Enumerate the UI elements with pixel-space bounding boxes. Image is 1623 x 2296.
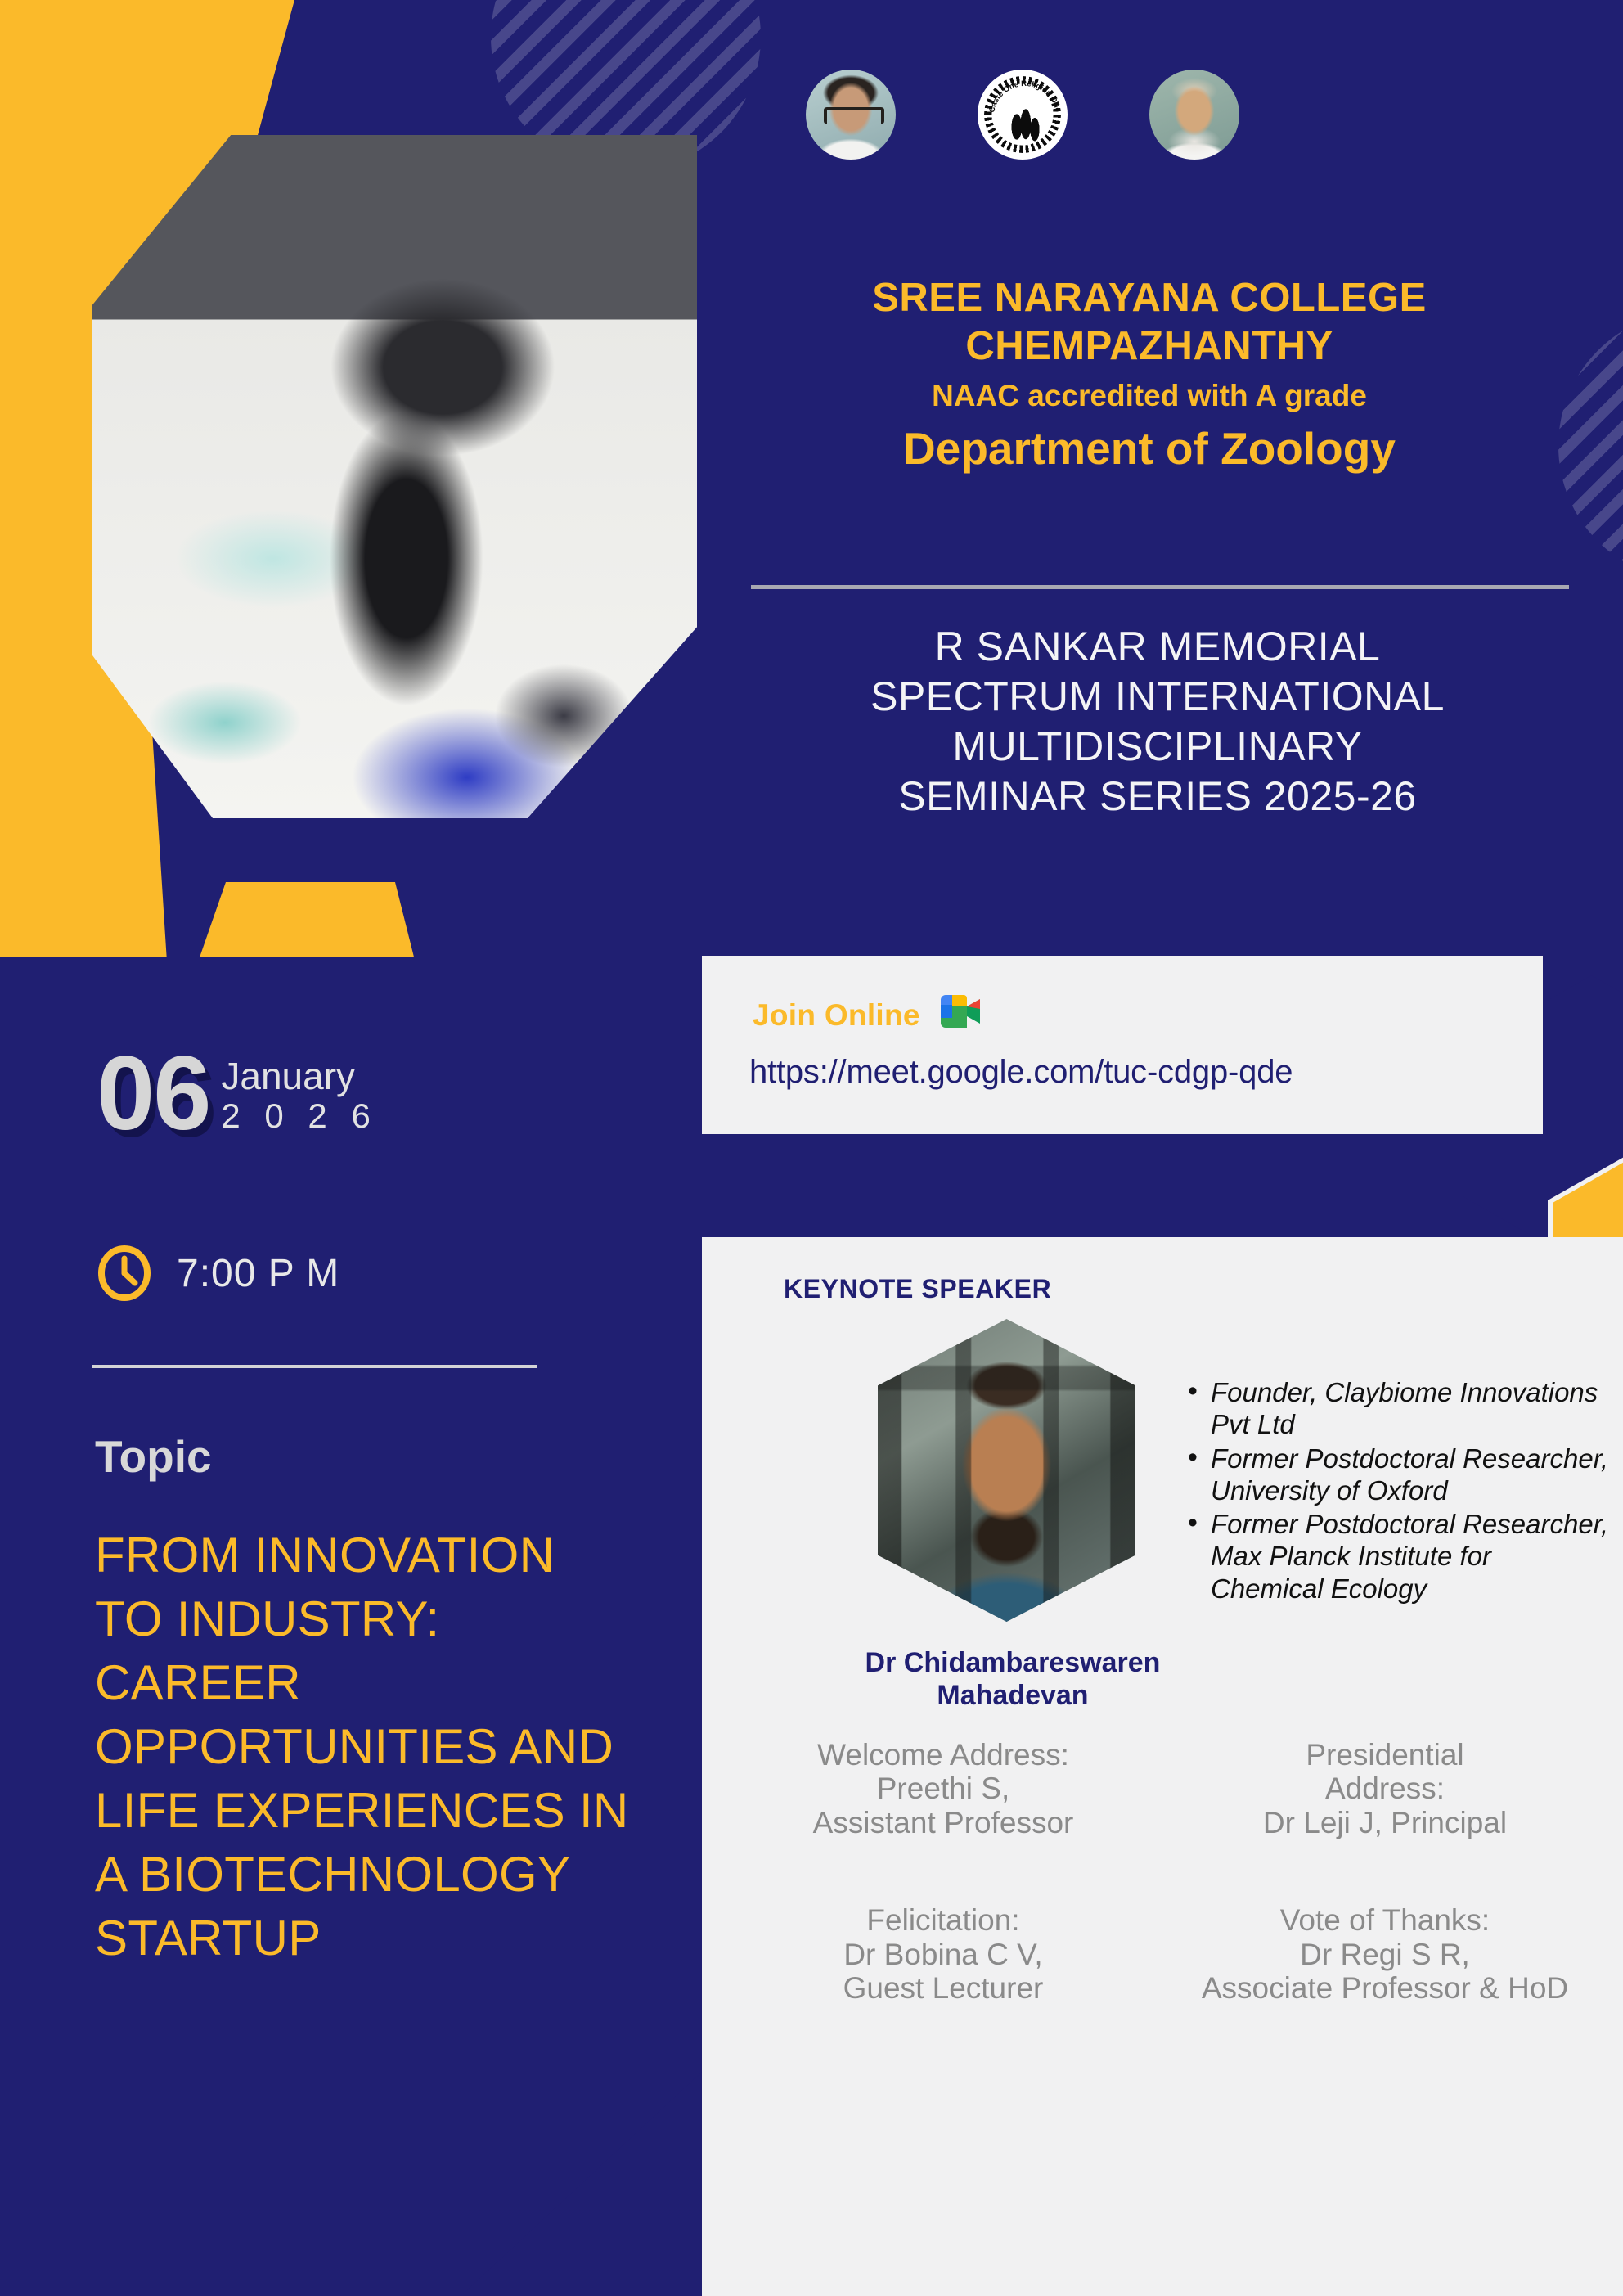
- left-divider: [92, 1365, 537, 1368]
- credit-person: Preethi S,: [726, 1772, 1160, 1805]
- seminar-title-line4: SEMINAR SERIES 2025-26: [736, 772, 1579, 822]
- seminar-title: R SANKAR MEMORIAL SPECTRUM INTERNATIONAL…: [736, 622, 1579, 822]
- header-divider: [751, 585, 1569, 589]
- seminar-title-line3: MULTIDISCIPLINARY: [736, 722, 1579, 772]
- topic-line6: A BIOTECHNOLOGY: [95, 1843, 651, 1907]
- credit-welcome-address: Welcome Address: Preethi S, Assistant Pr…: [726, 1738, 1160, 1839]
- speaker-credentials-list: Founder, Claybiome Innovations Pvt Ltd F…: [1185, 1376, 1610, 1606]
- college-name-line2: CHEMPAZHANTHY: [736, 322, 1562, 371]
- meeting-url[interactable]: https://meet.google.com/tuc-cdgp-qde: [749, 1054, 1293, 1091]
- topic-line5: LIFE EXPERIENCES IN: [95, 1779, 651, 1843]
- credit-felicitation: Felicitation: Dr Bobina C V, Guest Lectu…: [726, 1903, 1160, 2005]
- event-year: 2 0 2 6: [221, 1095, 377, 1138]
- seminar-title-line2: SPECTRUM INTERNATIONAL: [736, 672, 1579, 722]
- join-online-box: Join Online https://meet.google.com/tuc-…: [702, 956, 1543, 1134]
- topic-title: FROM INNOVATION TO INDUSTRY: CAREER OPPO…: [95, 1524, 651, 1970]
- logo-row: One Caste One Religion One God: [806, 65, 1239, 164]
- sndp-motto-text: One Caste One Religion One God: [980, 72, 1063, 115]
- credit-designation: Assistant Professor: [726, 1806, 1160, 1839]
- accreditation-text: NAAC accredited with A grade: [736, 376, 1562, 416]
- clock-icon: [97, 1245, 152, 1301]
- speaker-name: Dr Chidambareswaren Mahadevan: [784, 1646, 1242, 1712]
- topic-line7: STARTUP: [95, 1907, 651, 1970]
- college-header: SREE NARAYANA COLLEGE CHEMPAZHANTHY NAAC…: [736, 274, 1562, 475]
- credit-designation: Guest Lecturer: [726, 1971, 1160, 2005]
- seminar-title-line1: R SANKAR MEMORIAL: [736, 622, 1579, 672]
- event-month: January: [221, 1057, 377, 1095]
- portrait-right-avatar: [1149, 70, 1239, 160]
- college-name-line1: SREE NARAYANA COLLEGE: [736, 274, 1562, 322]
- join-online-label: Join Online: [753, 998, 920, 1033]
- event-date: 06 January 2 0 2 6: [97, 1049, 378, 1139]
- google-meet-icon: [939, 993, 983, 1029]
- speaker-name-line2: Mahadevan: [784, 1679, 1242, 1712]
- list-item: Former Postdoctoral Researcher, Universi…: [1185, 1443, 1610, 1507]
- topic-line2: TO INDUSTRY:: [95, 1587, 651, 1651]
- credit-designation: Dr Leji J, Principal: [1168, 1806, 1602, 1839]
- topic-line4: OPPORTUNITIES AND: [95, 1715, 651, 1779]
- credit-person: Dr Regi S R,: [1168, 1938, 1602, 1971]
- list-item: Former Postdoctoral Researcher, Max Plan…: [1185, 1508, 1610, 1605]
- event-day: 06: [97, 1049, 209, 1139]
- credit-role: Presidential: [1168, 1738, 1602, 1772]
- credit-role: Vote of Thanks:: [1168, 1903, 1602, 1937]
- speaker-name-line1: Dr Chidambareswaren: [784, 1646, 1242, 1679]
- portrait-left-avatar: [806, 70, 896, 160]
- topic-label: Topic: [95, 1430, 212, 1483]
- credit-person: Address:: [1168, 1772, 1602, 1805]
- credits-grid: Welcome Address: Preethi S, Assistant Pr…: [726, 1738, 1602, 2006]
- department-name: Department of Zoology: [736, 421, 1562, 475]
- credit-role: Felicitation:: [726, 1903, 1160, 1937]
- keynote-heading: KEYNOTE SPEAKER: [784, 1274, 1051, 1304]
- topic-line3: CAREER: [95, 1651, 651, 1715]
- credit-vote-of-thanks: Vote of Thanks: Dr Regi S R, Associate P…: [1168, 1903, 1602, 2005]
- event-time-row: 7:00 P M: [97, 1245, 339, 1301]
- topic-line1: FROM INNOVATION: [95, 1524, 651, 1587]
- credit-designation: Associate Professor & HoD: [1168, 1971, 1602, 2005]
- poster-root: One Caste One Religion One God SREE NARA…: [0, 0, 1623, 2296]
- sndp-emblem-icon: One Caste One Religion One God: [978, 70, 1068, 160]
- list-item: Founder, Claybiome Innovations Pvt Ltd: [1185, 1376, 1610, 1441]
- svg-text:One Caste One Religion One God: One Caste One Religion One God: [980, 72, 1063, 115]
- speaker-photo: [878, 1319, 1135, 1622]
- event-time: 7:00 P M: [177, 1251, 339, 1296]
- credit-presidential-address: Presidential Address: Dr Leji J, Princip…: [1168, 1738, 1602, 1839]
- credit-person: Dr Bobina C V,: [726, 1938, 1160, 1971]
- keynote-panel: KEYNOTE SPEAKER Founder, Claybiome Innov…: [702, 1237, 1623, 2296]
- microscope-lab-photo: [92, 135, 697, 818]
- credit-role: Welcome Address:: [726, 1738, 1160, 1772]
